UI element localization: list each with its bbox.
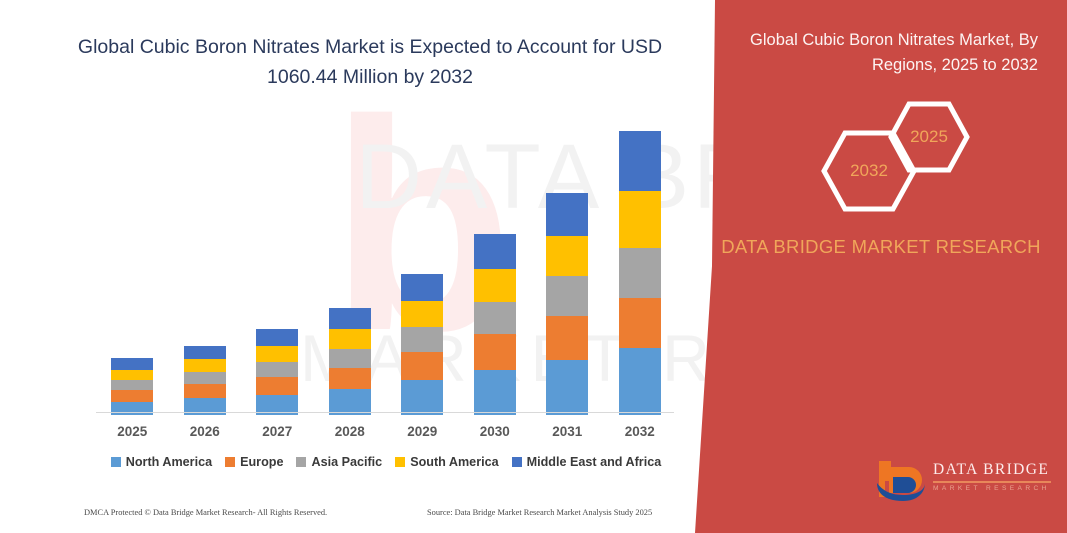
bar-segment (619, 131, 661, 191)
chart-legend: North AmericaEuropeAsia PacificSouth Ame… (96, 455, 676, 469)
x-axis-label: 2029 (392, 424, 452, 439)
hex-badge-group: 2032 2025 (690, 98, 1067, 213)
bar-segment (474, 234, 516, 269)
legend-item-north-america[interactable]: North America (111, 455, 212, 469)
bar-column (619, 131, 661, 415)
bar-column (329, 308, 371, 415)
bar-column (474, 234, 516, 415)
bar-column (184, 345, 226, 415)
chart-plot-area (96, 110, 676, 415)
bar-segment (256, 362, 298, 377)
legend-label: Europe (240, 455, 283, 469)
bar-segment (184, 372, 226, 384)
hex-badge-2025: 2025 (888, 101, 970, 173)
bar-segment (401, 352, 443, 380)
bar-segment (474, 334, 516, 370)
bar-segment (474, 269, 516, 302)
bar-segment (474, 370, 516, 415)
logo-subtitle: MARKET RESEARCH (933, 485, 1063, 492)
bar-segment (111, 380, 153, 390)
bar-segment (619, 191, 661, 247)
bar-segment (546, 316, 588, 360)
x-axis-label: 2028 (320, 424, 380, 439)
infographic-root: b DATA BRIDGE MARKET RESEARCH Global Cub… (0, 0, 1067, 533)
legend-item-europe[interactable]: Europe (225, 455, 283, 469)
bar-segment (401, 301, 443, 327)
legend-swatch-icon (296, 457, 306, 467)
legend-item-asia-pacific[interactable]: Asia Pacific (296, 455, 382, 469)
bar-segment (256, 346, 298, 362)
bar-segment (111, 370, 153, 381)
chart-panel: b DATA BRIDGE MARKET RESEARCH Global Cub… (0, 0, 720, 533)
bar-segment (329, 349, 371, 368)
footer-copyright: DMCA Protected © Data Bridge Market Rese… (84, 508, 327, 517)
bar-segment (401, 274, 443, 301)
footer-source: Source: Data Bridge Market Research Mark… (427, 508, 652, 517)
logo-name: DATA BRIDGE (933, 461, 1063, 479)
bar-segment (184, 346, 226, 359)
x-axis-label: 2025 (102, 424, 162, 439)
bar-segment (401, 380, 443, 415)
hex-badge-2032-label: 2032 (850, 161, 888, 181)
bar-segment (111, 390, 153, 402)
bar-column (546, 193, 588, 415)
x-axis-labels: 20252026202720282029203020312032 (96, 424, 676, 446)
x-axis-label: 2031 (537, 424, 597, 439)
bar-segment (111, 402, 153, 415)
legend-swatch-icon (395, 457, 405, 467)
x-axis-label: 2026 (175, 424, 235, 439)
legend-label: South America (410, 455, 498, 469)
hex-badge-2025-label: 2025 (910, 127, 948, 147)
legend-item-middle-east-and-africa[interactable]: Middle East and Africa (512, 455, 662, 469)
legend-item-south-america[interactable]: South America (395, 455, 498, 469)
bar-segment (546, 236, 588, 276)
bar-segment (256, 329, 298, 346)
legend-swatch-icon (512, 457, 522, 467)
chart-title: Global Cubic Boron Nitrates Market is Ex… (60, 32, 680, 92)
bar-segment (619, 248, 661, 298)
bar-segment (619, 348, 661, 415)
bar-segment (329, 308, 371, 329)
legend-label: Middle East and Africa (527, 455, 662, 469)
legend-label: Asia Pacific (311, 455, 382, 469)
bar-segment (184, 359, 226, 372)
x-axis-label: 2032 (610, 424, 670, 439)
banner-title: Global Cubic Boron Nitrates Market, By R… (718, 28, 1038, 78)
bar-segment (546, 360, 588, 415)
legend-label: North America (126, 455, 212, 469)
bar-column (401, 274, 443, 415)
bar-column (256, 329, 298, 415)
bar-segment (401, 327, 443, 352)
bar-segment (546, 276, 588, 316)
x-axis-line (96, 412, 674, 413)
right-banner-panel: Global Cubic Boron Nitrates Market, By R… (690, 0, 1067, 533)
bar-column (111, 358, 153, 415)
bar-segment (474, 302, 516, 334)
bar-segment (111, 358, 153, 369)
bar-segment (619, 298, 661, 348)
data-bridge-logo-mark (875, 457, 927, 503)
data-bridge-logo: DATA BRIDGE MARKET RESEARCH (875, 455, 1065, 507)
logo-divider (933, 481, 1051, 483)
bar-segment (184, 384, 226, 398)
bar-segment (256, 377, 298, 394)
legend-swatch-icon (111, 457, 121, 467)
x-axis-label: 2030 (465, 424, 525, 439)
bar-segment (329, 329, 371, 349)
data-bridge-logo-text: DATA BRIDGE MARKET RESEARCH (933, 461, 1063, 492)
banner-brand-text: DATA BRIDGE MARKET RESEARCH (718, 232, 1044, 261)
legend-swatch-icon (225, 457, 235, 467)
x-axis-label: 2027 (247, 424, 307, 439)
bar-segment (329, 368, 371, 389)
bar-segment (546, 193, 588, 236)
